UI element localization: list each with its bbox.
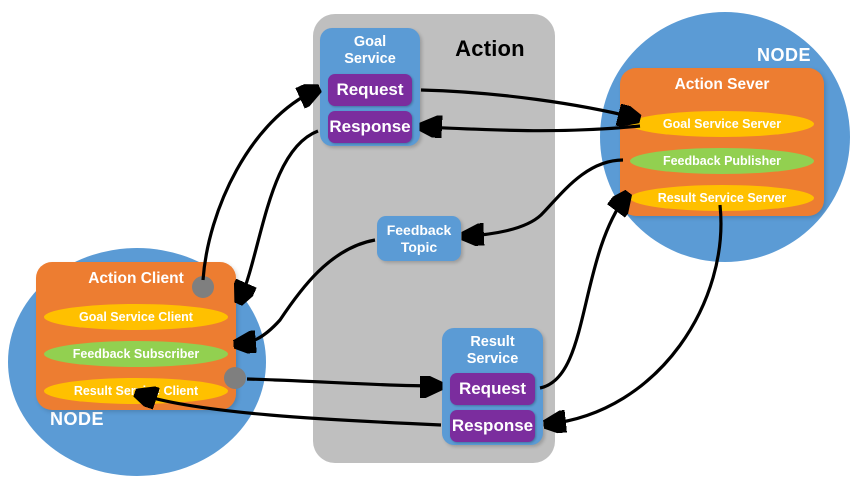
pill-result-service-client[interactable]: Result Service Client [44,378,228,404]
result-service-response[interactable]: Response [450,410,535,442]
goal-service-box: Goal Service Request Response [320,28,420,146]
action-server-title: Action Sever [620,76,824,94]
feedback-topic-line1: Feedback [387,222,452,238]
result-service-box: Result Service Request Response [442,328,543,445]
goal-service-title: Goal Service [320,34,420,68]
connector-dot-goal-client [192,276,214,298]
arrow-goal-client-to-request [203,90,316,280]
result-service-title: Result Service [442,334,543,368]
arrow-response-to-goal-client [240,131,318,300]
node-label-client: NODE [50,409,104,430]
result-service-request[interactable]: Request [450,373,535,405]
goal-service-response[interactable]: Response [328,111,412,143]
goal-service-title-line2: Service [344,51,396,67]
pill-goal-service-server[interactable]: Goal Service Server [630,111,814,137]
result-service-title-line1: Result [470,334,514,350]
pill-feedback-publisher[interactable]: Feedback Publisher [630,148,814,174]
connector-dot-result-client [224,367,246,389]
node-label-server: NODE [757,45,811,66]
feedback-topic-line2: Topic [401,239,437,255]
feedback-topic-label: Feedback Topic [387,222,452,256]
feedback-topic-box[interactable]: Feedback Topic [377,216,461,261]
pill-goal-service-client[interactable]: Goal Service Client [44,304,228,330]
action-server-panel: Action Sever Goal Service Server Feedbac… [620,68,824,216]
pill-feedback-subscriber[interactable]: Feedback Subscriber [44,341,228,367]
result-service-title-line2: Service [467,351,519,367]
diagram-canvas: Action NODE Action Sever Goal Service Se… [0,0,854,480]
goal-service-request[interactable]: Request [328,74,412,106]
action-title: Action [430,36,550,62]
pill-result-service-server[interactable]: Result Service Server [630,185,814,211]
goal-service-title-line1: Goal [354,34,386,50]
